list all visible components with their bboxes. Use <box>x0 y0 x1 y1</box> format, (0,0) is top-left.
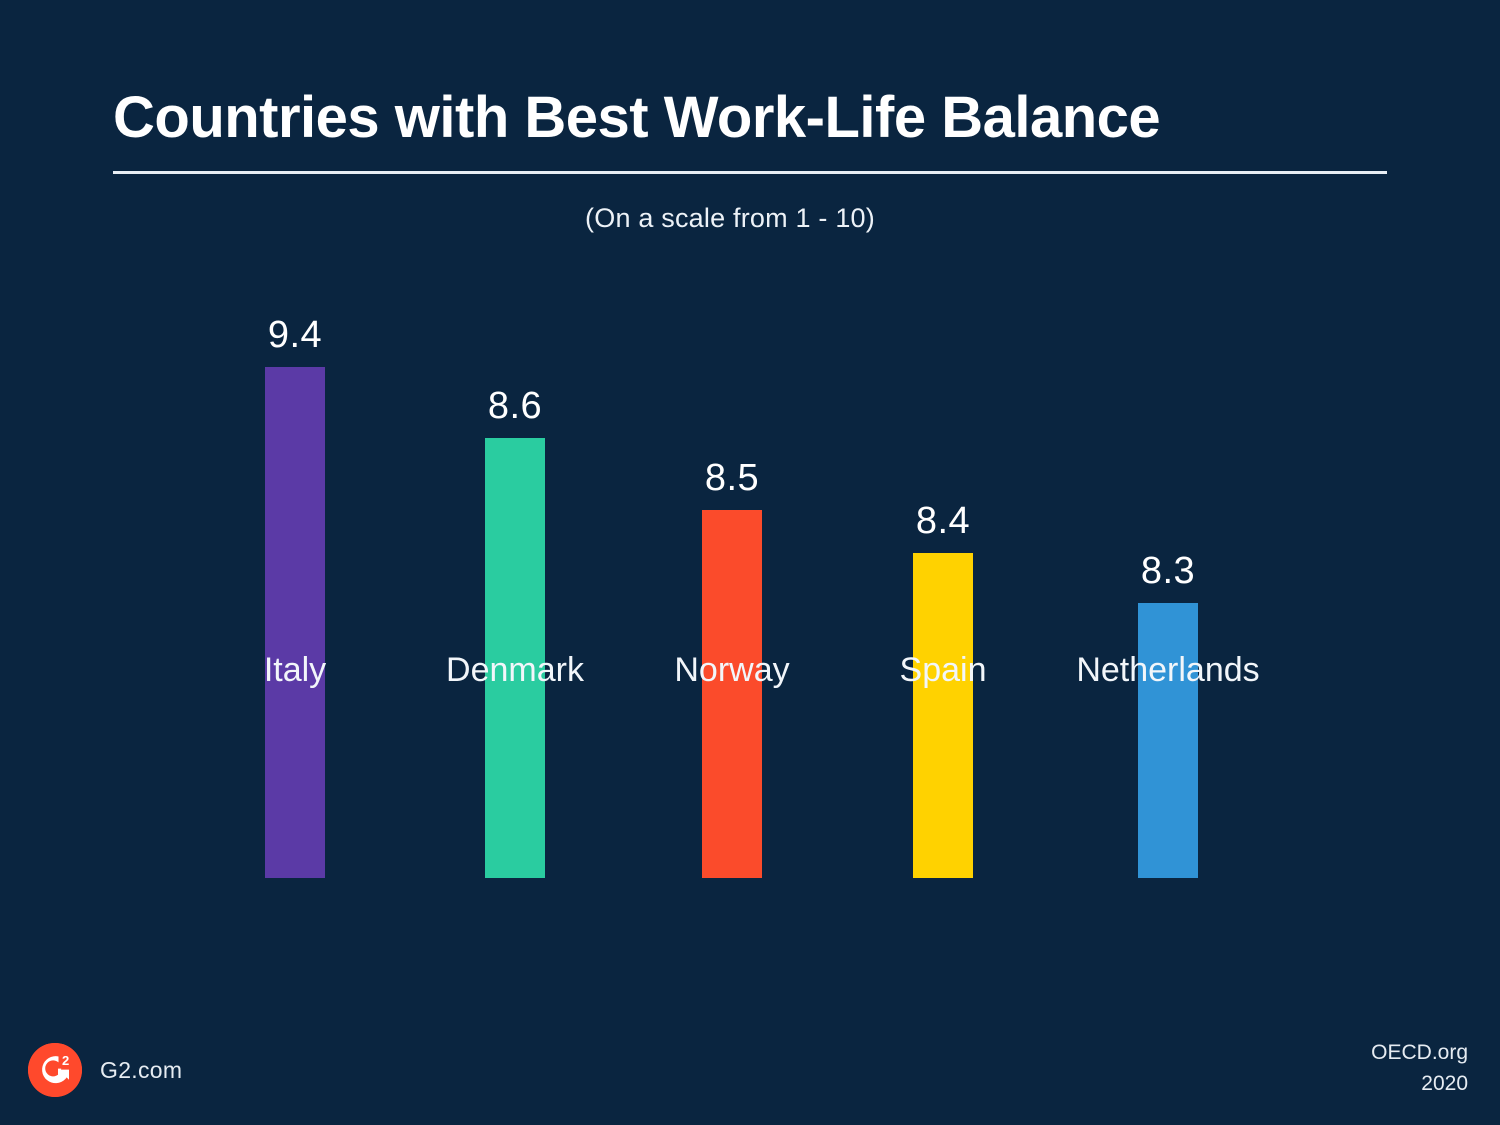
bar-column: 8.4 <box>843 318 1043 878</box>
bar-norway[interactable] <box>702 510 762 878</box>
bar-group-denmark: 8.6 Denmark <box>415 318 615 878</box>
bar-column: 9.4 <box>195 318 395 878</box>
source-attribution: OECD.org 2020 <box>1371 1038 1468 1099</box>
bar-value-norway: 8.5 <box>632 457 832 500</box>
bar-label-italy: Italy <box>195 651 395 690</box>
bar-value-spain: 8.4 <box>843 500 1043 543</box>
bar-column: 8.5 <box>632 318 832 878</box>
source-year: 2020 <box>1371 1069 1468 1099</box>
bar-label-spain: Spain <box>843 651 1043 690</box>
bar-label-netherlands: Netherlands <box>1068 651 1268 690</box>
bar-label-wrap: Spain <box>843 611 1043 671</box>
g2-site-label: G2.com <box>100 1057 182 1084</box>
svg-text:2: 2 <box>62 1053 69 1068</box>
bar-column: 8.6 <box>415 318 615 878</box>
bar-value-italy: 9.4 <box>195 314 395 357</box>
bar-column: 8.3 <box>1068 318 1268 878</box>
bar-group-netherlands: 8.3 Netherlands <box>1068 318 1268 878</box>
bar-value-denmark: 8.6 <box>415 385 615 428</box>
bar-label-denmark: Denmark <box>415 651 615 690</box>
bar-label-wrap: Norway <box>632 611 832 671</box>
bar-label-wrap: Denmark <box>415 611 615 671</box>
bar-group-norway: 8.5 Norway <box>632 318 832 878</box>
bar-label-norway: Norway <box>632 651 832 690</box>
bar-group-spain: 8.4 Spain <box>843 318 1043 878</box>
footer-brand[interactable]: 2 G2.com <box>28 1043 182 1097</box>
bar-spain[interactable] <box>913 553 973 878</box>
bar-chart-plot-area: 9.4 Italy 8.6 Denmark 8.5 Norway 8.4 <box>0 0 1500 1125</box>
bar-label-wrap: Italy <box>195 611 395 671</box>
g2-logo-icon: 2 <box>28 1043 82 1097</box>
bar-label-wrap: Netherlands <box>1068 611 1268 671</box>
bar-group-italy: 9.4 Italy <box>195 318 395 878</box>
source-name: OECD.org <box>1371 1038 1468 1068</box>
bar-value-netherlands: 8.3 <box>1068 550 1268 593</box>
